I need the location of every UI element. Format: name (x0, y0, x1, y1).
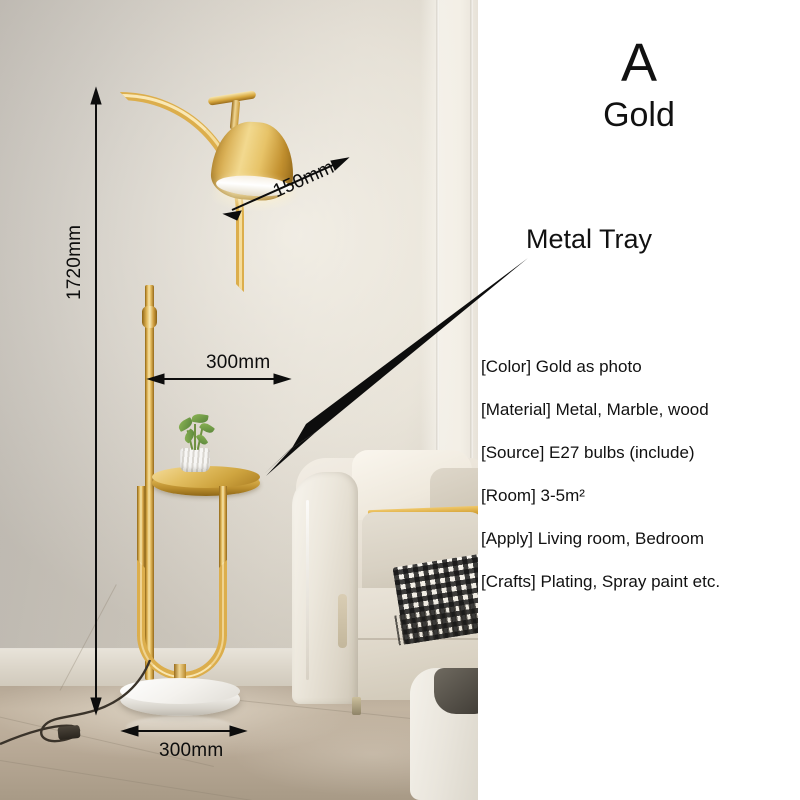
product-spec-image: 1720mm 300mm 150mm 300mm A Gold Metal Tr… (0, 0, 800, 800)
specification-panel: A Gold Metal Tray [Color] Gold as photo … (478, 0, 800, 800)
spec-row-color: [Color] Gold as photo (481, 358, 800, 375)
spec-row-source: [Source] E27 bulbs (include) (481, 444, 800, 461)
sofa-seam (306, 500, 309, 680)
dimension-label-height: 1720mm (64, 225, 86, 300)
cord-inline-switch (57, 725, 80, 740)
plant-pot (180, 448, 210, 472)
lamp-product-photo: 1720mm 300mm 150mm 300mm (0, 0, 478, 800)
sofa-leg (352, 697, 361, 715)
lamp-pole-collar (142, 306, 157, 328)
variant-name: Gold (478, 98, 800, 132)
ottoman-tabletop (434, 668, 478, 714)
spec-row-room: [Room] 3-5m² (481, 487, 800, 504)
callout-label-metal-tray: Metal Tray (526, 224, 652, 255)
variant-letter: A (478, 36, 800, 90)
spec-list: [Color] Gold as photo [Material] Metal, … (481, 358, 800, 616)
sofa-arm-detail (338, 594, 347, 648)
spec-row-material: [Material] Metal, Marble, wood (481, 401, 800, 418)
sofa-armrest (292, 472, 358, 704)
spec-row-crafts: [Crafts] Plating, Spray paint etc. (481, 573, 800, 590)
dimension-label-base-width: 300mm (159, 740, 223, 762)
spec-row-apply: [Apply] Living room, Bedroom (481, 530, 800, 547)
dimension-label-arm-reach: 300mm (206, 352, 270, 374)
